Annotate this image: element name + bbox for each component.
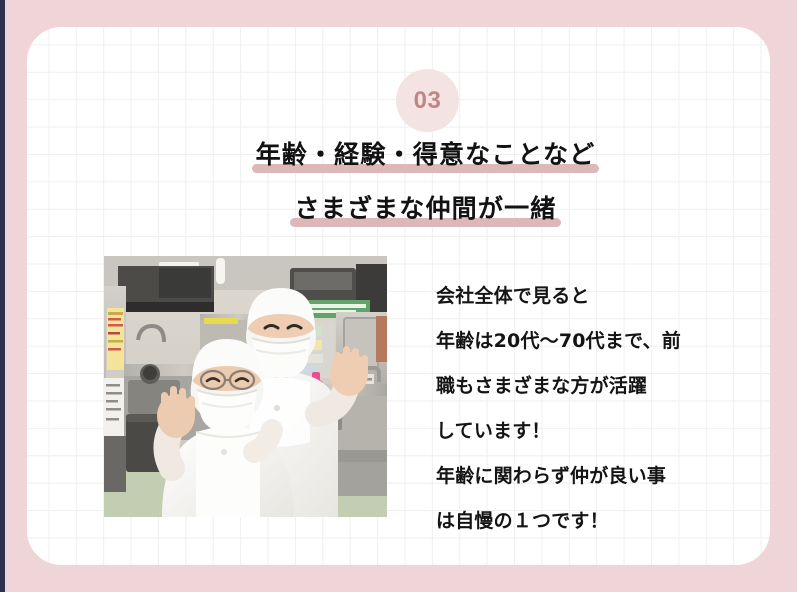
- body-line: 職もさまざまな方が活躍: [436, 364, 766, 409]
- heading-underline-2: [290, 218, 560, 227]
- body-line: 年齢に関わらず仲が良い事: [436, 454, 766, 499]
- heading-line-1: 年齢・経験・得意なことなど: [27, 139, 770, 170]
- section-number-badge: 03: [396, 69, 459, 132]
- body-line: 年齢は20代〜70代まで、前: [436, 319, 766, 364]
- left-edge-strip: [0, 0, 5, 592]
- body-line: しています！: [436, 409, 766, 454]
- staff-photo-illustration: [104, 256, 387, 517]
- heading-line-1-text: 年齢・経験・得意なことなど: [256, 139, 596, 170]
- content-panel: 03 年齢・経験・得意なことなど さまざまな仲間が一緒: [27, 27, 770, 565]
- heading-line-2: さまざまな仲間が一緒: [27, 193, 770, 224]
- staff-photo: [104, 256, 387, 517]
- heading-underline-1: [252, 164, 600, 173]
- slide-container: 03 年齢・経験・得意なことなど さまざまな仲間が一緒: [0, 0, 797, 592]
- section-number-label: 03: [414, 89, 442, 113]
- heading-line-2-text: さまざまな仲間が一緒: [294, 193, 556, 224]
- body-text-block: 会社全体で見ると 年齢は20代〜70代まで、前 職もさまざまな方が活躍 していま…: [436, 274, 766, 544]
- body-line: 会社全体で見ると: [436, 274, 766, 319]
- body-line: は自慢の１つです！: [436, 499, 766, 544]
